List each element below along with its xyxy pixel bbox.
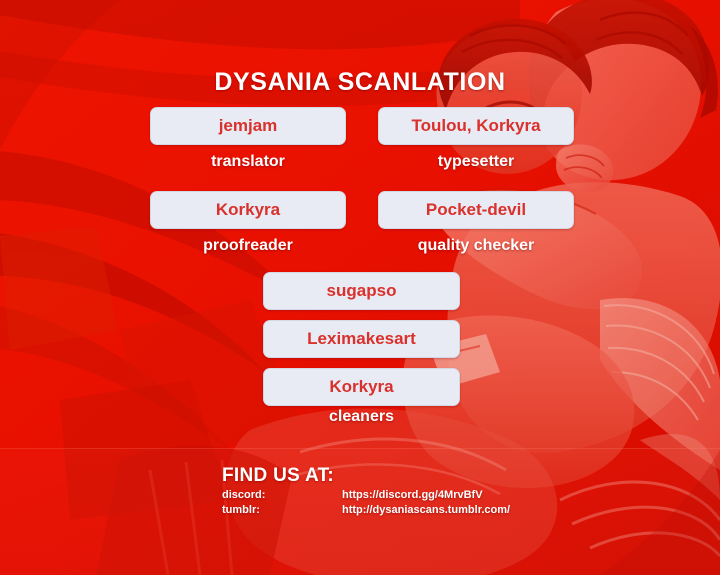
role-label-cleaners: cleaners xyxy=(263,408,460,426)
contact-row-discord: discord: https://discord.gg/4MrvBfV xyxy=(222,489,510,504)
contact-label-tumblr: tumblr: xyxy=(222,504,342,519)
contact-link-discord[interactable]: https://discord.gg/4MrvBfV xyxy=(342,489,510,504)
contact-links-table: discord: https://discord.gg/4MrvBfV tumb… xyxy=(222,489,510,519)
credit-box-cleaner-1[interactable]: sugapso xyxy=(263,272,460,310)
role-label-quality-checker: quality checker xyxy=(378,237,574,255)
credit-box-cleaner-3[interactable]: Korkyra xyxy=(263,368,460,406)
credit-box-quality-checker[interactable]: Pocket-devil xyxy=(378,191,574,229)
credit-box-translator[interactable]: jemjam xyxy=(150,107,346,145)
find-us-heading: FIND US AT: xyxy=(222,465,334,487)
credit-box-proofreader[interactable]: Korkyra xyxy=(150,191,346,229)
credit-box-cleaner-2[interactable]: Leximakesart xyxy=(263,320,460,358)
page-title: DYSANIA SCANLATION xyxy=(0,68,720,97)
role-label-typesetter: typesetter xyxy=(378,153,574,171)
contact-row-tumblr: tumblr: http://dysaniascans.tumblr.com/ xyxy=(222,504,510,519)
role-label-proofreader: proofreader xyxy=(150,237,346,255)
credit-box-typesetter[interactable]: Toulou, Korkyra xyxy=(378,107,574,145)
contact-link-tumblr[interactable]: http://dysaniascans.tumblr.com/ xyxy=(342,504,510,519)
role-label-translator: translator xyxy=(150,153,346,171)
contact-label-discord: discord: xyxy=(222,489,342,504)
credits-page: DYSANIA SCANLATION jemjam Toulou, Korkyr… xyxy=(0,0,720,575)
